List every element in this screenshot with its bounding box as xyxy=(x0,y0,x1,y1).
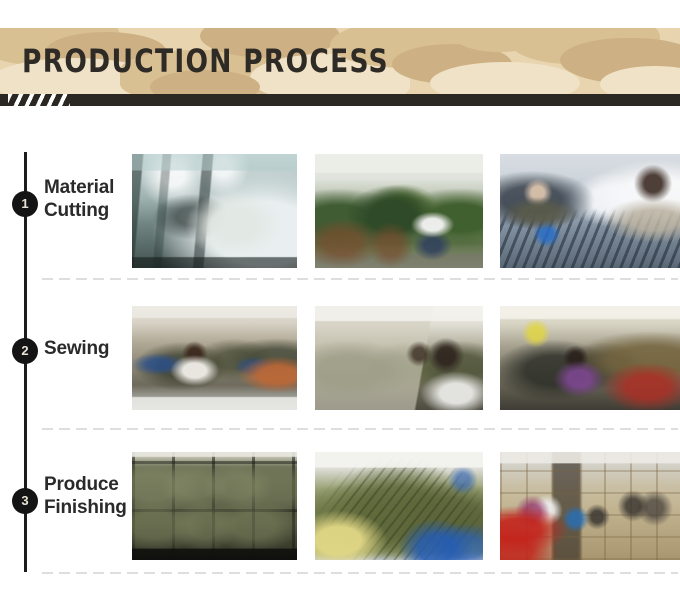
step-number-badge-3: 3 xyxy=(12,488,38,514)
sewing-operators-photo[interactable] xyxy=(315,306,483,410)
step-label-1-line1: Material xyxy=(44,176,132,199)
header-bottom-bar xyxy=(0,94,680,106)
step-label-2-line1: Sewing xyxy=(44,337,132,360)
fabric-roll-inspection-photo[interactable] xyxy=(315,154,483,268)
step-label-3-line1: Produce xyxy=(44,473,132,496)
row-separator-3 xyxy=(42,572,678,574)
step-number-badge-1: 1 xyxy=(12,191,38,217)
row-separator-2 xyxy=(42,428,678,430)
row-separator-1 xyxy=(42,278,678,280)
page-header-banner: PRODUCTION PROCESS xyxy=(0,28,680,108)
sewing-line-overview-photo[interactable] xyxy=(132,306,297,410)
weaving-machine-photo[interactable] xyxy=(132,154,297,268)
step-label-3: Produce Finishing xyxy=(44,473,132,519)
process-step-row-2: 2 Sewing xyxy=(0,300,680,418)
step-number-badge-2: 2 xyxy=(12,338,38,364)
packing-warehouse-photo[interactable] xyxy=(500,452,680,560)
page-title: PRODUCTION PROCESS xyxy=(22,39,389,83)
bulk-bags-stack-photo[interactable] xyxy=(315,452,483,560)
diagonal-stripes-decoration xyxy=(8,94,70,106)
fabric-cutting-table-photo[interactable] xyxy=(500,154,680,268)
step-label-2: Sewing xyxy=(44,337,132,360)
sewing-assembly-photo[interactable] xyxy=(500,306,680,410)
process-step-row-3: 3 Produce Finishing xyxy=(0,450,680,572)
finished-backpacks-photo[interactable] xyxy=(132,452,297,560)
step-1-photo-group xyxy=(132,150,680,272)
step-label-3-line2: Finishing xyxy=(44,496,132,519)
step-2-photo-group xyxy=(132,300,680,418)
step-label-1: Material Cutting xyxy=(44,176,132,222)
process-step-row-1: 1 Material Cutting xyxy=(0,150,680,272)
step-3-photo-group xyxy=(132,450,680,572)
step-label-1-line2: Cutting xyxy=(44,199,132,222)
